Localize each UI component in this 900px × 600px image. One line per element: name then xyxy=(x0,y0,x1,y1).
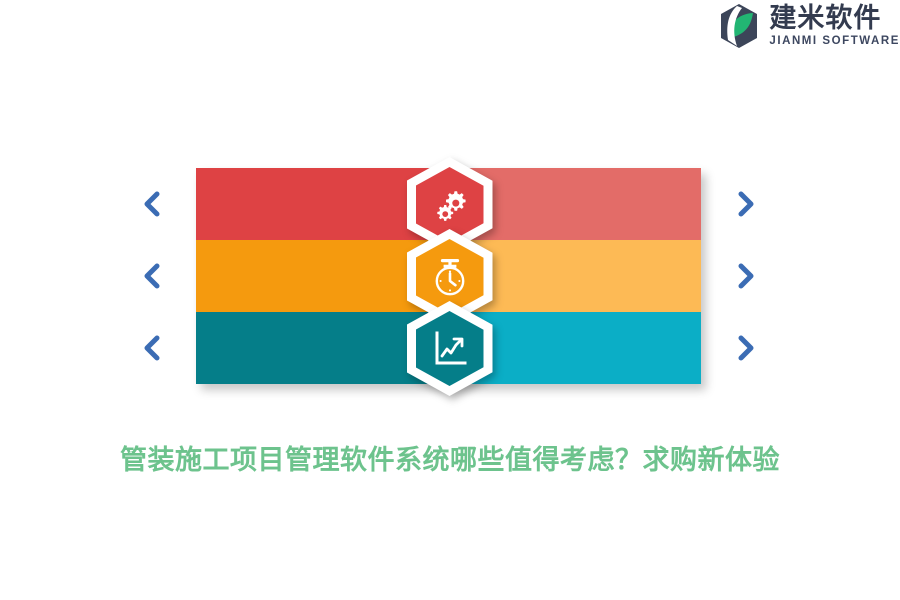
right-arrow-column xyxy=(716,168,776,384)
band-3-left-block xyxy=(196,312,450,384)
band-2-right-block xyxy=(450,240,702,312)
jianmi-hexagon-logo-icon xyxy=(715,2,763,50)
infographic-band-2[interactable] xyxy=(196,240,701,312)
chevron-right-icon xyxy=(735,334,757,362)
chevron-right-button-3[interactable] xyxy=(716,312,776,384)
chevron-left-icon xyxy=(141,262,163,290)
process-infographic xyxy=(196,168,701,384)
brand-name-en: JIANMI SOFTWARE xyxy=(769,36,900,48)
band-2-left-block xyxy=(196,240,450,312)
chevron-right-icon xyxy=(735,190,757,218)
band-1-right-block xyxy=(450,168,702,240)
chevron-right-button-2[interactable] xyxy=(716,240,776,312)
brand-text: 建米软件 JIANMI SOFTWARE xyxy=(769,4,900,48)
brand-name-cn: 建米软件 xyxy=(769,5,900,32)
brand-logo: 建米软件 JIANMI SOFTWARE xyxy=(715,0,900,52)
chevron-right-button-1[interactable] xyxy=(716,168,776,240)
chevron-right-icon xyxy=(735,262,757,290)
chevron-left-icon xyxy=(141,190,163,218)
band-3-right-block xyxy=(450,312,702,384)
infographic-band-3[interactable] xyxy=(196,312,701,384)
page-title: 管装施工项目管理软件系统哪些值得考虑？求购新体验 xyxy=(0,438,900,477)
chevron-left-icon xyxy=(141,334,163,362)
infographic-band-1[interactable] xyxy=(196,168,701,240)
left-arrow-column xyxy=(122,168,182,384)
chevron-left-button-2[interactable] xyxy=(122,240,182,312)
band-1-left-block xyxy=(196,168,450,240)
chevron-left-button-3[interactable] xyxy=(122,312,182,384)
chevron-left-button-1[interactable] xyxy=(122,168,182,240)
